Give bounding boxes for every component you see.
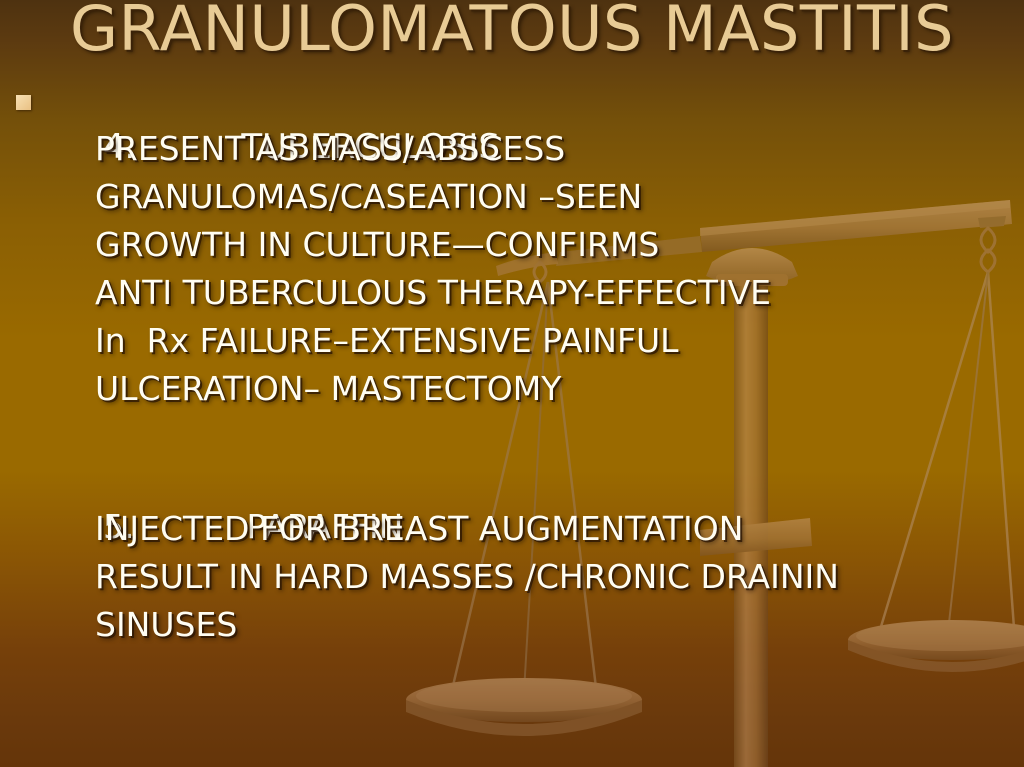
square-bullet-icon — [16, 95, 31, 110]
list-item: ANTI TUBERCULOUS THERAPY-EFFECTIVE — [0, 270, 1024, 318]
list-item: RESULT IN HARD MASSES /CHRONIC DRAININ — [0, 554, 1024, 602]
list-item: GROWTH IN CULTURE—CONFIRMS — [0, 222, 1024, 270]
item-5-line-2: RESULT IN HARD MASSES /CHRONIC DRAININ — [0, 554, 839, 600]
list-item-5-heading: 5.PARAFFIN — [0, 458, 1024, 506]
presentation-slide: GRANULOMATOUS MASTITIS 4.TUBERCULOSIS PR… — [0, 0, 1024, 767]
item-4-line-5: In Rx FAILURE–EXTENSIVE PAINFUL — [0, 318, 678, 364]
slide-body: 4.TUBERCULOSIS PRESENT AS MASS/ABSCESS G… — [0, 78, 1024, 650]
item-4-line-4: ANTI TUBERCULOUS THERAPY-EFFECTIVE — [0, 270, 771, 316]
list-item: In Rx FAILURE–EXTENSIVE PAINFUL — [0, 318, 1024, 366]
list-item: INJECTED FOR BREAST AUGMENTATION — [0, 506, 1024, 554]
item-4-line-3: GROWTH IN CULTURE—CONFIRMS — [0, 222, 659, 268]
list-item: GRANULOMAS/CASEATION –SEEN — [0, 174, 1024, 222]
list-item-4-heading: 4.TUBERCULOSIS — [0, 78, 1024, 126]
item-5-line-1: INJECTED FOR BREAST AUGMENTATION — [0, 506, 743, 552]
item-4-line-6: ULCERATION– MASTECTOMY — [0, 366, 561, 412]
list-item: PRESENT AS MASS/ABSCESS — [0, 126, 1024, 174]
slide-title: GRANULOMATOUS MASTITIS — [0, 0, 1024, 64]
section-spacer — [0, 414, 1024, 458]
item-4-line-1: PRESENT AS MASS/ABSCESS — [0, 126, 565, 172]
list-item: ULCERATION– MASTECTOMY — [0, 366, 1024, 414]
item-5-line-3: SINUSES — [0, 602, 237, 648]
item-4-line-2: GRANULOMAS/CASEATION –SEEN — [0, 174, 642, 220]
list-item: SINUSES — [0, 602, 1024, 650]
